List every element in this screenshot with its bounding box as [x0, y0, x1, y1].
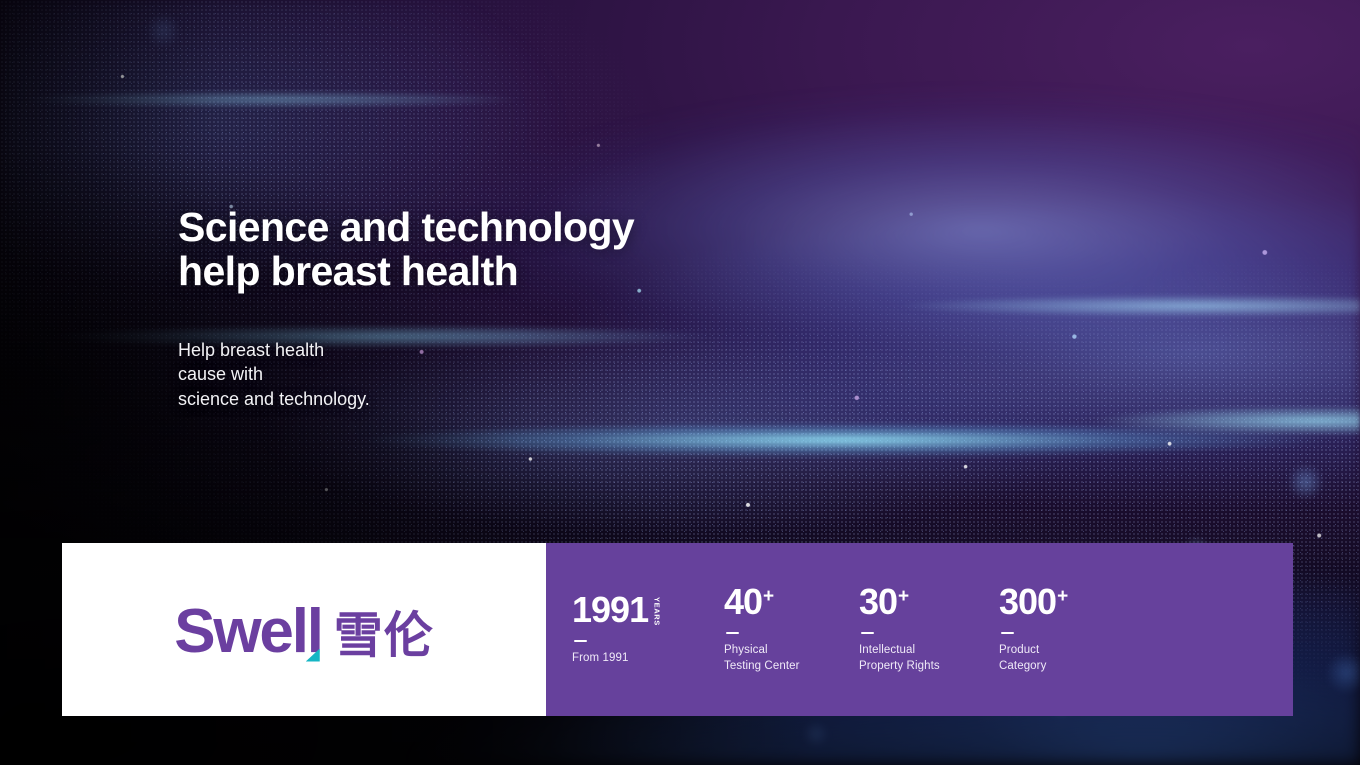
stat-value: 300	[999, 584, 1056, 620]
stat-divider	[861, 632, 874, 634]
stat-item: 1991 YEARS From 1991	[572, 592, 724, 667]
stat-label: Intellectual Property Rights	[859, 643, 999, 674]
hero-copy: Science and technology help breast healt…	[178, 205, 634, 412]
stat-value-row: 40 +	[724, 584, 859, 620]
stat-suffix: +	[898, 587, 909, 606]
stat-item: 30 + Intellectual Property Rights	[859, 584, 999, 674]
logo-chinese-name: 雪伦	[334, 611, 434, 660]
stat-value: 40	[724, 584, 762, 620]
stat-label: Physical Testing Center	[724, 643, 859, 674]
stat-vertical-note: YEARS	[653, 597, 661, 626]
hero-subheadline: Help breast health cause with science an…	[178, 338, 634, 412]
stat-divider	[574, 640, 587, 642]
bottom-band: Swell 雪伦 1991 YEARS From 1991 40 +	[62, 543, 1293, 716]
hero-headline: Science and technology help breast healt…	[178, 205, 634, 294]
logo-lockup: Swell 雪伦	[174, 601, 434, 663]
stats-panel: 1991 YEARS From 1991 40 + Physical Testi…	[546, 543, 1293, 716]
stat-item: 40 + Physical Testing Center	[724, 584, 859, 674]
stat-value-row: 30 +	[859, 584, 999, 620]
hero-banner: Science and technology help breast healt…	[0, 0, 1360, 765]
stat-divider	[1001, 632, 1014, 634]
stat-value: 30	[859, 584, 897, 620]
stat-divider	[726, 632, 739, 634]
stat-value-row: 1991 YEARS	[572, 592, 724, 628]
stat-value-row: 300 +	[999, 584, 1132, 620]
logo-wordmark: Swell	[174, 601, 322, 663]
logo-wordmark-text: Swell	[174, 597, 322, 666]
stat-suffix: +	[763, 587, 774, 606]
stat-suffix: +	[1057, 587, 1068, 606]
stat-item: 300 + Product Category	[999, 584, 1132, 674]
stat-label: From 1991	[572, 651, 724, 667]
logo-panel: Swell 雪伦	[62, 543, 546, 716]
stat-label: Product Category	[999, 643, 1132, 674]
stat-value: 1991	[572, 592, 648, 628]
